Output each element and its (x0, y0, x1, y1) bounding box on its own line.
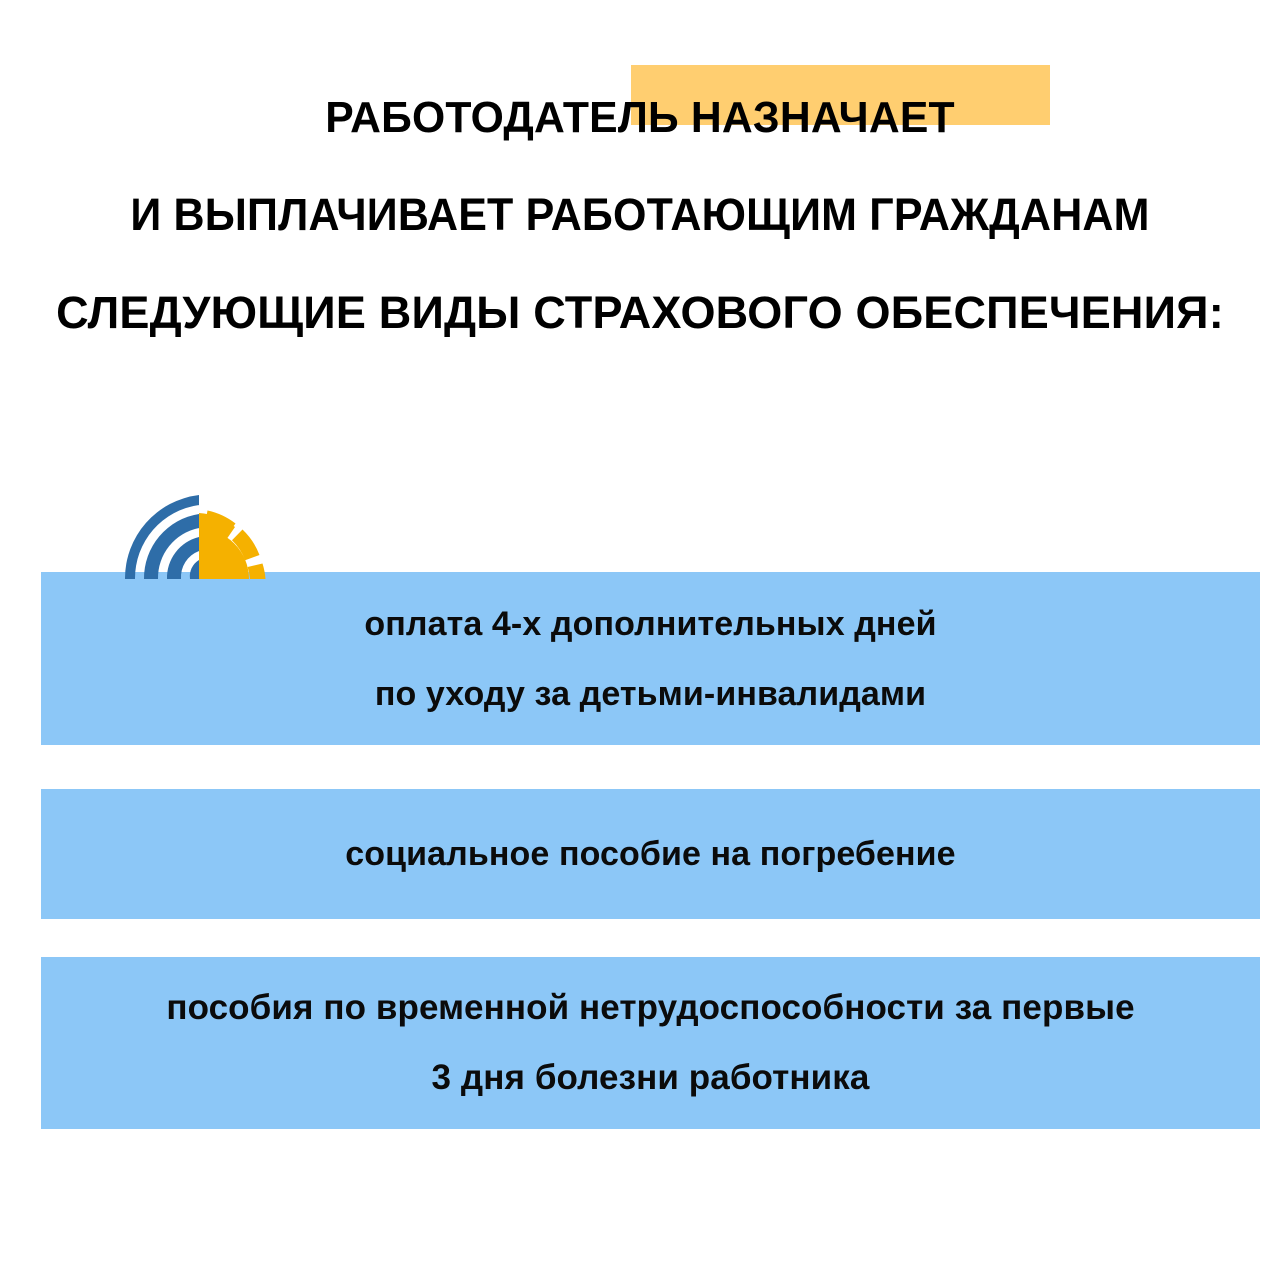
social-insurance-fund-logo-icon (125, 495, 273, 579)
benefit-card-line-1: оплата 4-х дополнительных дней (364, 604, 936, 644)
benefit-card-funeral-allowance: социальное пособие на погребение (41, 789, 1260, 919)
page-title-line-1: РАБОТОДАТЕЛЬ НАЗНАЧАЕТ (19, 88, 1261, 148)
benefit-card-sick-leave: пособия по временной нетрудоспособности … (41, 957, 1260, 1129)
benefit-card-line-1: пособия по временной нетрудоспособности … (166, 988, 1134, 1028)
benefits-list: оплата 4-х дополнительных дней по уходу … (41, 572, 1260, 1129)
benefit-card-extra-care-days: оплата 4-х дополнительных дней по уходу … (41, 572, 1260, 745)
poster-root: РАБОТОДАТЕЛЬ НАЗНАЧАЕТ И ВЫПЛАЧИВАЕТ РАБ… (0, 0, 1280, 1280)
page-title: РАБОТОДАТЕЛЬ НАЗНАЧАЕТ И ВЫПЛАЧИВАЕТ РАБ… (0, 88, 1280, 343)
benefit-card-line-2: 3 дня болезни работника (432, 1058, 870, 1098)
benefit-card-line-1: социальное пособие на погребение (345, 834, 955, 874)
page-title-line-2: И ВЫПЛАЧИВАЕТ РАБОТАЮЩИМ ГРАЖДАНАМ (29, 185, 1251, 245)
benefit-card-line-2: по уходу за детьми-инвалидами (375, 674, 926, 714)
page-title-line-3: СЛЕДУЮЩИЕ ВИДЫ СТРАХОВОГО ОБЕСПЕЧЕНИЯ: (0, 283, 1280, 343)
